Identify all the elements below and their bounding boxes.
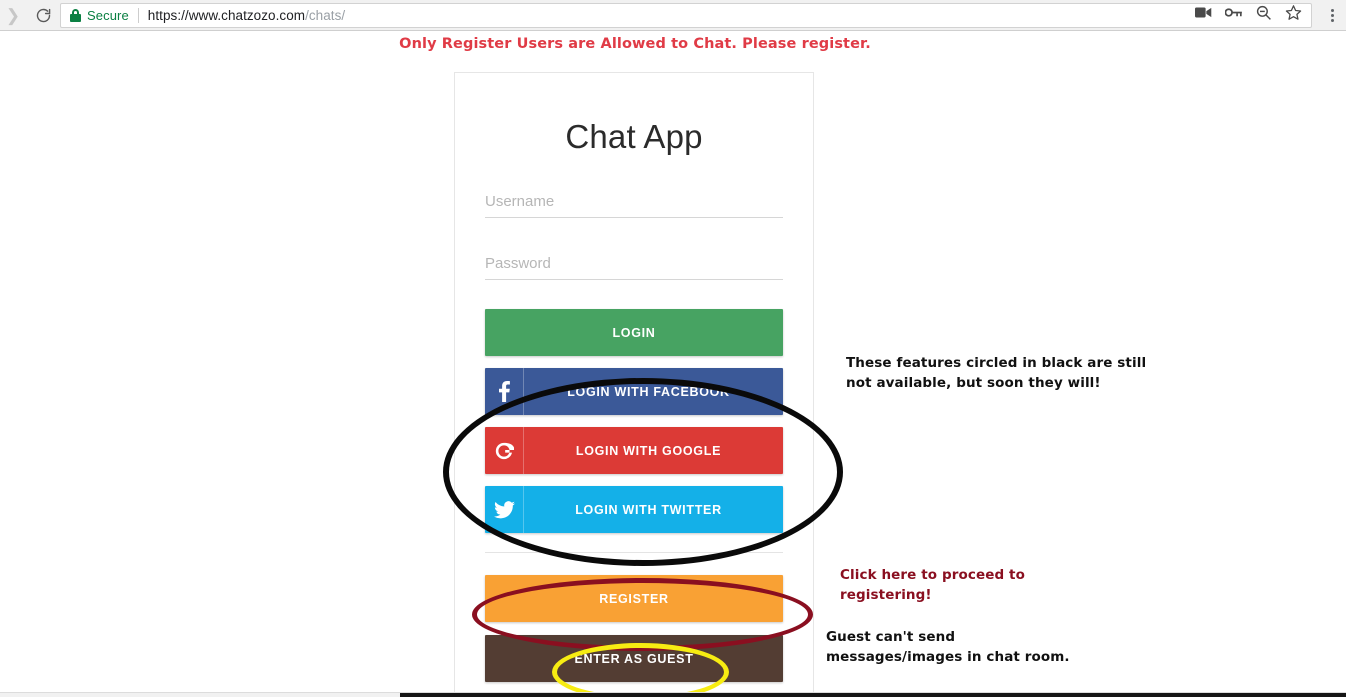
register-required-alert: Only Register Users are Allowed to Chat.…: [0, 36, 1270, 52]
facebook-icon: [485, 368, 524, 415]
zoom-out-icon[interactable]: [1256, 5, 1272, 26]
login-card: Chat App LOGIN LOGIN WITH FACEBOOK LOGIN…: [454, 72, 814, 697]
url-text: https://www.chatzozo.com/chats/: [148, 8, 345, 23]
horizontal-scrollbar[interactable]: [0, 692, 1346, 697]
page-title: Chat App: [455, 118, 813, 156]
security-status-label: Secure: [87, 8, 129, 23]
annotation-note-guest: Guest can't send messages/images in chat…: [826, 628, 1070, 667]
enter-as-guest-button[interactable]: ENTER AS GUEST: [485, 635, 783, 682]
url-path: /chats/: [305, 8, 345, 23]
address-bar[interactable]: Secure https://www.chatzozo.com/chats/: [60, 3, 1312, 28]
browser-toolbar: ❯ Secure https://www.chatzozo.com/chats/: [0, 0, 1346, 31]
url-domain: https://www.chatzozo.com: [148, 8, 305, 23]
forward-arrow-icon[interactable]: ❯: [0, 7, 26, 24]
login-with-twitter-button[interactable]: LOGIN WITH TWITTER: [485, 486, 783, 533]
twitter-button-label: LOGIN WITH TWITTER: [524, 503, 783, 517]
card-divider: [485, 552, 783, 553]
reload-icon[interactable]: [26, 7, 60, 24]
annotation-note-register: Click here to proceed to registering!: [840, 566, 1025, 605]
key-icon[interactable]: [1225, 6, 1243, 24]
password-field-wrap: [485, 255, 783, 280]
username-field-wrap: [485, 193, 783, 218]
page-content: Only Register Users are Allowed to Chat.…: [0, 31, 1346, 697]
password-input[interactable]: [485, 255, 783, 280]
login-with-facebook-button[interactable]: LOGIN WITH FACEBOOK: [485, 368, 783, 415]
login-button[interactable]: LOGIN: [485, 309, 783, 356]
register-button[interactable]: REGISTER: [485, 575, 783, 622]
star-icon[interactable]: [1285, 4, 1302, 26]
annotation-note-unavailable-features: These features circled in black are stil…: [846, 354, 1146, 393]
twitter-icon: [485, 486, 524, 533]
google-icon: [485, 427, 524, 474]
facebook-button-label: LOGIN WITH FACEBOOK: [524, 385, 783, 399]
username-input[interactable]: [485, 193, 783, 218]
omnibox-divider: [138, 8, 139, 23]
video-camera-icon[interactable]: [1195, 6, 1212, 24]
login-with-google-button[interactable]: LOGIN WITH GOOGLE: [485, 427, 783, 474]
omnibox-icons: [1195, 4, 1311, 26]
lock-icon: [69, 9, 82, 22]
scrollbar-thumb[interactable]: [400, 693, 1346, 697]
three-dot-menu-icon[interactable]: [1318, 9, 1346, 22]
google-button-label: LOGIN WITH GOOGLE: [524, 444, 783, 458]
